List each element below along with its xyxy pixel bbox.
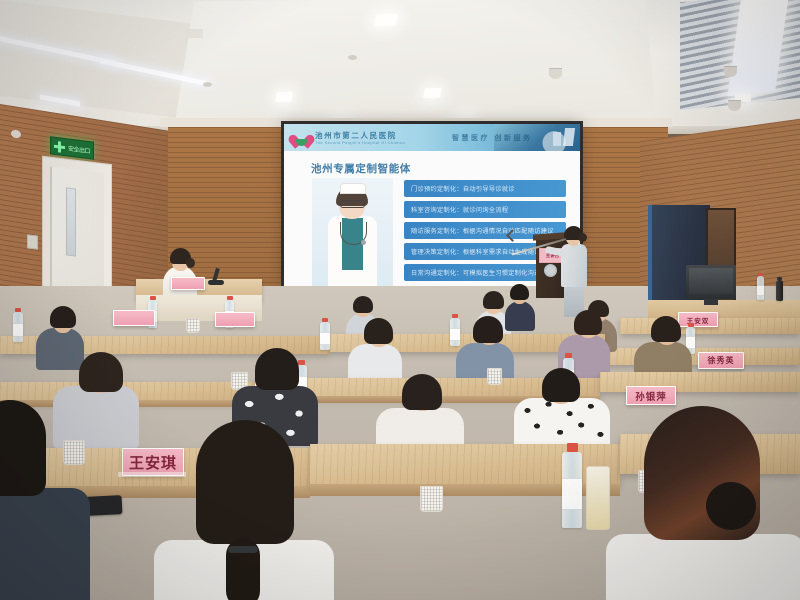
bottle-cap (227, 296, 233, 300)
attendee-body (606, 534, 800, 600)
slide-bullet: 门诊预约定制化：自动引导导诊就诊 (404, 180, 566, 197)
placard-name: 徐秀英 (708, 355, 735, 366)
ceiling (0, 0, 800, 132)
water-bottle[interactable] (450, 318, 460, 346)
slide-bullet-text: 门诊预约定制化：自动引导导诊就诊 (411, 184, 515, 193)
light-switch-plate[interactable] (27, 234, 38, 249)
bottle-cap (322, 318, 328, 322)
bottle-label (320, 332, 330, 345)
attendee-hair (473, 316, 503, 343)
attendee-hair (364, 318, 393, 344)
attendee-hair (483, 291, 504, 309)
podium-emblem-icon (544, 264, 557, 277)
bottle-cap (15, 308, 21, 312)
smoke-detector-icon (348, 55, 357, 60)
placard (171, 277, 205, 290)
placard (215, 312, 255, 327)
attendee-hair (574, 310, 602, 335)
bottle-label (562, 478, 582, 510)
bottle-cap (452, 314, 458, 318)
placard-stand (118, 472, 186, 477)
attendee-hair (651, 316, 681, 342)
banner-subtitle: 智慧医疗 创新服务 (452, 133, 532, 143)
slide-bullet-text: 日常沟通定制化：可模拟医生习惯定制化沟通 (411, 268, 541, 277)
attendee-body (505, 301, 535, 331)
moderator-hair-bun (186, 258, 195, 268)
bottle-cap (777, 277, 782, 280)
bottle-cap (150, 296, 156, 300)
placard: 孙银萍 (626, 386, 676, 405)
ceiling-panel-light (275, 92, 293, 103)
glasses-icon (340, 200, 365, 208)
attendee-hair (0, 400, 46, 496)
conference-room-photo: 安全出口 池州市第二人民医院 The Second People's Hospi… (0, 0, 800, 600)
placard (113, 310, 155, 326)
water-bottle[interactable] (13, 312, 23, 342)
attendee-hair (79, 352, 123, 392)
bottle-cap (688, 323, 694, 327)
bottle-label (13, 323, 23, 337)
water-bottle[interactable] (757, 276, 764, 300)
ceiling-speaker-icon (549, 68, 562, 79)
snack-pouch[interactable] (586, 466, 610, 530)
ceiling-panel-light (423, 88, 442, 99)
monitor-stand (704, 299, 718, 305)
placard-name: 孙银萍 (635, 389, 667, 403)
hospital-logo-icon (293, 129, 310, 146)
attendee-body (0, 488, 90, 600)
slide-bullet: 科室咨询定制化：就诊问询全流程 (404, 201, 566, 218)
attendee-body (514, 398, 610, 450)
water-bottle[interactable] (320, 322, 330, 350)
ai-doctor-avatar (312, 178, 393, 286)
slide-title: 池州专属定制智能体 (311, 161, 411, 176)
attendee-hair (353, 296, 373, 313)
nurse-cap-icon (340, 183, 366, 194)
attendee-hair (196, 420, 294, 544)
bottle-cap (758, 273, 763, 276)
placard: 王安双 (678, 312, 718, 327)
ceiling-speaker-icon (728, 100, 741, 111)
smoke-detector-icon (203, 82, 212, 87)
bottle-label (757, 285, 764, 296)
water-bottle[interactable] (562, 452, 582, 528)
bottle-cap (565, 353, 572, 358)
slide-bullet-text: 科室咨询定制化：就诊问询全流程 (411, 205, 508, 214)
bottle-label (450, 328, 460, 341)
ceiling-panel-light (186, 29, 203, 38)
water-bottle[interactable] (776, 280, 783, 301)
building-shape (553, 132, 561, 146)
exit-sign-label: 安全出口 (68, 143, 90, 155)
attendee-hair (50, 306, 76, 328)
smartphone[interactable] (86, 495, 123, 516)
attendee-hair (510, 284, 529, 300)
paper-cup[interactable] (63, 440, 85, 465)
bottle-cap (567, 443, 578, 452)
ceiling-center-panel (175, 0, 655, 122)
paper-cup[interactable] (186, 318, 200, 333)
attendee-body (36, 328, 84, 370)
hospital-name-en: The Second People's Hospital Of Chizhou (315, 140, 405, 145)
presenter-hair-bun (578, 233, 587, 242)
microphone-base (208, 280, 224, 285)
paper-cup[interactable] (420, 486, 443, 512)
slide-header-band: 池州市第二人民医院 The Second People's Hospital O… (284, 124, 580, 151)
bottle-cap (298, 360, 305, 365)
hair-bun (706, 482, 756, 530)
attendee-hair (255, 348, 299, 390)
placard: 徐秀英 (698, 352, 744, 369)
attendee-body (53, 386, 139, 448)
green-cross-icon (54, 140, 65, 152)
attendee-hair (542, 368, 580, 402)
stethoscope-icon (340, 222, 367, 245)
paper-cup[interactable] (487, 368, 502, 385)
ceiling-panel-light (374, 13, 398, 26)
monitor-screen (689, 268, 733, 294)
attendee-hair (402, 374, 442, 410)
ceiling-speaker-icon (724, 66, 737, 77)
door-vision-panel (66, 187, 76, 256)
hair-tie (228, 546, 258, 553)
placard-name: 王安琪 (129, 452, 177, 473)
building-shape (563, 128, 575, 146)
